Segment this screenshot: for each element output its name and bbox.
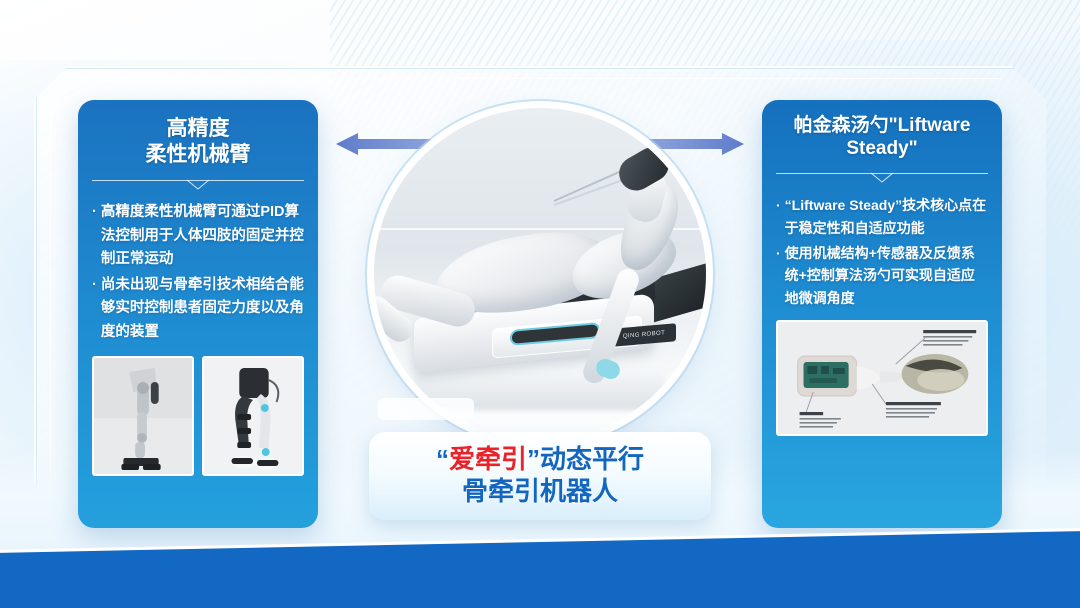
traction-robot-bed-photo: QING ROBOT — [374, 108, 706, 440]
list-item: · “Liftware Steady”技术核心点在于稳定性和自适应功能 — [776, 194, 988, 239]
left-panel-title-line2: 柔性机械臂 — [92, 142, 304, 168]
panel-liftware-steady[interactable]: 帕金森汤勺"Liftware Steady" · “Liftware Stead… — [762, 100, 1002, 528]
bullet-marker: · — [776, 194, 781, 239]
caption-quote-open: “ — [436, 444, 449, 474]
liftware-spoon-diagram[interactable] — [776, 320, 988, 436]
caption-accent-text: 爱牵引 — [449, 444, 527, 474]
exoskeleton-walking-photo[interactable] — [202, 356, 304, 476]
list-item: · 使用机械结构+传感器及反馈系统+控制算法汤勺可实现自适应地微调角度 — [776, 242, 988, 310]
chevron-down-icon — [871, 172, 893, 183]
right-panel-title: 帕金森汤勺"Liftware Steady" — [762, 100, 1002, 160]
caption-quote-close: ” — [527, 444, 540, 474]
bullet-text: “Liftware Steady”技术核心点在于稳定性和自适应功能 — [785, 194, 988, 239]
bullet-marker: · — [776, 242, 781, 310]
list-item: · 高精度柔性机械臂可通过PID算法控制用于人体四肢的固定并控制正常运动 — [92, 201, 304, 271]
list-item: · 尚未出现与骨牵引技术相结合能够实时控制患者固定力度以及角度的装置 — [92, 274, 304, 344]
slide-canvas: QING ROBOT 高精度 柔性机械臂 — [0, 0, 1080, 608]
bullet-text: 使用机械结构+传感器及反馈系统+控制算法汤勺可实现自适应地微调角度 — [785, 242, 988, 310]
left-panel-thumbnails — [78, 346, 318, 476]
left-panel-bullets: · 高精度柔性机械臂可通过PID算法控制用于人体四肢的固定并控制正常运动 · 尚… — [78, 191, 318, 344]
caption-line-1: “爱牵引”动态平行 — [436, 444, 644, 476]
bullet-text: 高精度柔性机械臂可通过PID算法控制用于人体四肢的固定并控制正常运动 — [101, 201, 304, 271]
left-panel-divider — [92, 180, 304, 191]
panel-high-precision-arm[interactable]: 高精度 柔性机械臂 · 高精度柔性机械臂可通过PID算法控制用于人体四肢的固定并… — [78, 100, 318, 528]
caption-line-2: 骨牵引机器人 — [462, 476, 618, 508]
decorative-ghost-bar — [378, 398, 474, 420]
right-panel-divider — [776, 173, 988, 184]
robotic-leg-brace-photo[interactable] — [92, 356, 194, 476]
bullet-marker: · — [92, 274, 97, 344]
center-photo-circle: QING ROBOT — [374, 108, 706, 440]
chevron-down-icon — [187, 179, 209, 190]
left-panel-title: 高精度 柔性机械臂 — [78, 100, 318, 167]
left-panel-title-line1: 高精度 — [92, 116, 304, 142]
right-panel-title-line2: Steady" — [774, 137, 990, 160]
bullet-marker: · — [92, 201, 97, 271]
right-panel-title-line1: 帕金森汤勺"Liftware — [774, 114, 990, 137]
bullet-text: 尚未出现与骨牵引技术相结合能够实时控制患者固定力度以及角度的装置 — [101, 274, 304, 344]
right-panel-bullets: · “Liftware Steady”技术核心点在于稳定性和自适应功能 · 使用… — [762, 184, 1002, 309]
center-caption-card: “爱牵引”动态平行 骨牵引机器人 — [369, 432, 711, 520]
caption-rest-text: 动态平行 — [540, 444, 644, 474]
